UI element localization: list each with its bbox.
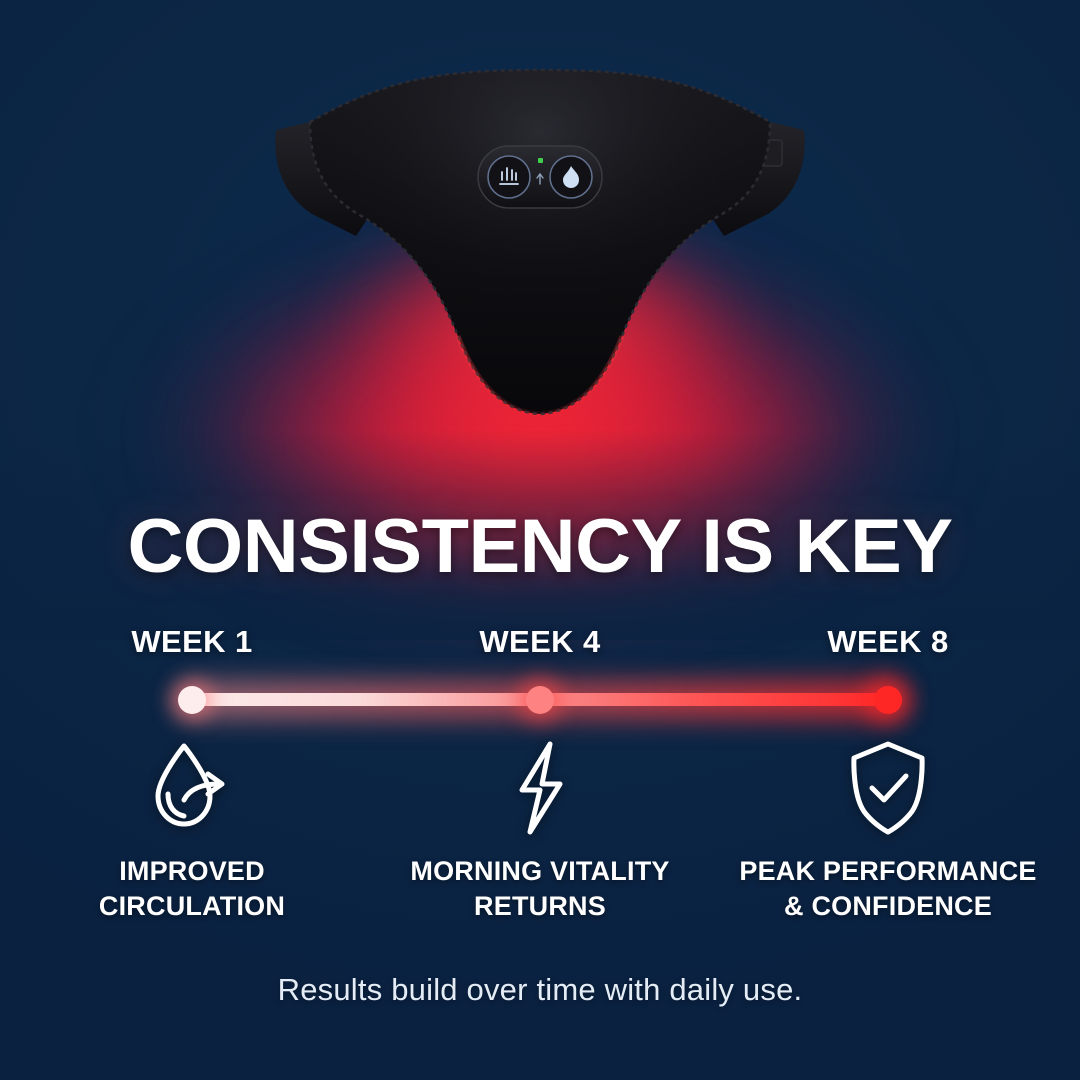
promotional-poster: CONSISTENCY IS KEY WEEK 1 WEEK 4 WEEK 8 bbox=[0, 0, 1080, 1080]
benefit-peak-performance: PEAK PERFORMANCE & CONFIDENCE bbox=[728, 736, 1048, 923]
shield-check-icon bbox=[728, 736, 1048, 840]
timeline-dot-week-4 bbox=[526, 686, 554, 714]
week-label-3: WEEK 8 bbox=[827, 624, 948, 660]
wrap-sheen bbox=[310, 70, 770, 414]
timeline-track bbox=[192, 693, 888, 707]
benefit-label-morning-vitality: MORNING VITALITY RETURNS bbox=[380, 854, 700, 923]
timeline-dot-week-8 bbox=[874, 686, 902, 714]
page-title: CONSISTENCY IS KEY bbox=[0, 503, 1080, 590]
power-led bbox=[538, 158, 543, 163]
benefit-label-peak-performance: PEAK PERFORMANCE & CONFIDENCE bbox=[728, 854, 1048, 923]
massage-button bbox=[488, 156, 530, 198]
timeline-dot-week-1 bbox=[178, 686, 206, 714]
benefit-improved-circulation: IMPROVED CIRCULATION bbox=[32, 736, 352, 923]
footnote-text: Results build over time with daily use. bbox=[0, 972, 1080, 1008]
week-label-1: WEEK 1 bbox=[131, 624, 252, 660]
benefit-morning-vitality: MORNING VITALITY RETURNS bbox=[380, 736, 700, 923]
benefits-row: IMPROVED CIRCULATION MORNING VITALITY RE… bbox=[0, 736, 1080, 926]
week-labels: WEEK 1 WEEK 4 WEEK 8 bbox=[0, 624, 1080, 664]
lightning-bolt-icon bbox=[380, 736, 700, 840]
water-drop-circulation-icon bbox=[32, 736, 352, 840]
product-image bbox=[270, 68, 810, 438]
week-label-2: WEEK 4 bbox=[479, 624, 600, 660]
control-panel bbox=[478, 146, 602, 208]
benefit-label-improved-circulation: IMPROVED CIRCULATION bbox=[32, 854, 352, 923]
